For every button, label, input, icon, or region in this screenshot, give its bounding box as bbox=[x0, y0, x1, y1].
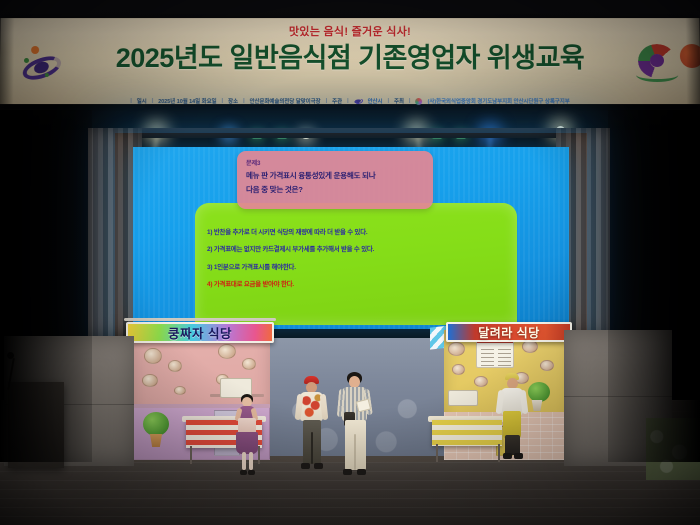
sep: | bbox=[388, 98, 390, 104]
table-leg bbox=[436, 444, 438, 462]
shoe-right bbox=[248, 470, 255, 475]
left-shop-sign: 쿵짜자 식당 bbox=[126, 322, 274, 343]
shoe-left bbox=[240, 470, 247, 475]
wall-plate-icon bbox=[474, 376, 488, 387]
sep: | bbox=[152, 98, 154, 104]
performer-man-red-cap bbox=[296, 376, 328, 476]
answer-option-1: 1) 반찬을 추가로 더 시키면 식당의 재량에 따라 더 받을 수 있다. bbox=[207, 227, 507, 236]
banner-date-label: 일시 bbox=[137, 97, 147, 105]
table-leg bbox=[190, 446, 192, 464]
banner-host-label: 주관 bbox=[332, 97, 342, 105]
slide-question-box: 문제3 메뉴 판 가격표시 융통성있게 운용해도 되나 다음 중 맞는 것은? bbox=[237, 151, 433, 209]
right-shop-sign-text: 달려라 식당 bbox=[478, 324, 540, 341]
wall-plate-icon bbox=[242, 358, 256, 370]
shoe-left bbox=[301, 463, 310, 469]
banner-orange-circle-icon bbox=[680, 44, 700, 68]
wall-plate-icon bbox=[144, 348, 162, 364]
banner-organizer-value: (사)한국외식업중앙회 경기도남부지회 안산시단원구 상록구지부 bbox=[428, 97, 570, 105]
shoe-right bbox=[514, 453, 523, 459]
shoe-right bbox=[314, 463, 323, 469]
leg-gap bbox=[311, 432, 313, 464]
wall-plate-icon bbox=[448, 342, 465, 356]
right-dark-wing bbox=[608, 110, 700, 462]
association-mini-logo-icon bbox=[416, 98, 423, 105]
sep: | bbox=[326, 98, 328, 104]
ansan-city-logo-icon bbox=[18, 42, 66, 86]
performer-chef-yellow-apron bbox=[497, 373, 527, 461]
wall-plate-icon bbox=[174, 386, 186, 395]
sep: | bbox=[130, 98, 132, 104]
performer-man-striped-shirt bbox=[338, 372, 372, 482]
trousers bbox=[505, 435, 520, 455]
right-plant-pot bbox=[530, 400, 544, 411]
answer-option-3: 3) 1인분으로 가격표시를 해야한다. bbox=[207, 262, 507, 271]
wall-plate-icon bbox=[218, 344, 236, 359]
banner-place-label: 장소 bbox=[228, 97, 238, 105]
right-plant-bush bbox=[528, 382, 550, 402]
left-shop-sign-text: 쿵짜자 식당 bbox=[168, 323, 232, 342]
slide-green-panel: 1) 반찬을 추가로 더 시키면 식당의 재량에 따라 더 받을 수 있다. 2… bbox=[195, 203, 517, 325]
wall-plate-icon bbox=[452, 364, 465, 375]
left-plant-bush bbox=[143, 412, 169, 436]
banner-title: 2025년도 일반음식점 기존영업자 위생교육 bbox=[72, 36, 628, 75]
sep: | bbox=[243, 98, 245, 104]
left-sign-rail bbox=[124, 318, 276, 321]
curtain-valance bbox=[88, 128, 610, 138]
banner-place-value: 안산문화예술의전당 달맞이극장 bbox=[250, 97, 321, 105]
right-whiteboard bbox=[448, 390, 478, 406]
banner-details: | 일시 | 2025년 10월 14일 화요일 | 장소 | 안산문화예술의전… bbox=[70, 97, 631, 105]
leg-right bbox=[249, 452, 253, 470]
sep: | bbox=[222, 98, 224, 104]
shoe-right bbox=[357, 469, 366, 475]
question-number: 문제3 bbox=[246, 158, 424, 167]
event-banner: 맛있는 음식! 즐거운 식사! 2025년도 일반음식점 기존영업자 위생교육 … bbox=[0, 18, 700, 104]
sep: | bbox=[409, 98, 411, 104]
leg-gap bbox=[354, 434, 356, 470]
skirt bbox=[236, 432, 258, 454]
projection-screen: 1) 반찬을 추가로 더 시키면 식당의 재량에 따라 더 받을 수 있다. 2… bbox=[133, 147, 569, 329]
shoe-left bbox=[503, 453, 512, 459]
left-dark-wing bbox=[0, 110, 92, 462]
banner-organizer-label: 주최 bbox=[394, 97, 404, 105]
wall-plate-icon bbox=[168, 360, 182, 372]
leg-left bbox=[242, 452, 246, 470]
shoe-left bbox=[343, 469, 352, 475]
right-shop-sign: 달려라 식당 bbox=[446, 322, 572, 342]
wall-plate-icon bbox=[142, 374, 158, 387]
right-striped-table bbox=[432, 420, 502, 446]
sep: | bbox=[347, 98, 349, 104]
question-line-1: 메뉴 판 가격표시 융통성있게 운용해도 되나 bbox=[246, 170, 424, 181]
answer-option-4: 4) 가격표대로 요금을 받아야 한다. bbox=[207, 279, 507, 288]
right-menu-board bbox=[476, 338, 514, 368]
slide-answer-list: 1) 반찬을 추가로 더 시키면 식당의 재량에 따라 더 받을 수 있다. 2… bbox=[207, 227, 507, 297]
performer-woman-purple-dress bbox=[232, 394, 262, 478]
banner-date-value: 2025년 10월 14일 화요일 bbox=[158, 97, 216, 105]
stage-photo: 맛있는 음식! 즐거운 식사! 2025년도 일반음식점 기존영업자 위생교육 … bbox=[0, 0, 700, 525]
association-swirl-logo-icon bbox=[632, 38, 685, 88]
answer-option-2: 2) 가격표에는 없지만 카드결제시 부가세를 추가해서 받을 수 있다. bbox=[207, 244, 507, 253]
question-line-2: 다음 중 맞는 것은? bbox=[246, 184, 424, 195]
wall-plate-icon bbox=[540, 360, 554, 371]
banner-host-value: 안산시 bbox=[368, 97, 383, 105]
ansan-mini-logo-icon bbox=[353, 97, 363, 106]
